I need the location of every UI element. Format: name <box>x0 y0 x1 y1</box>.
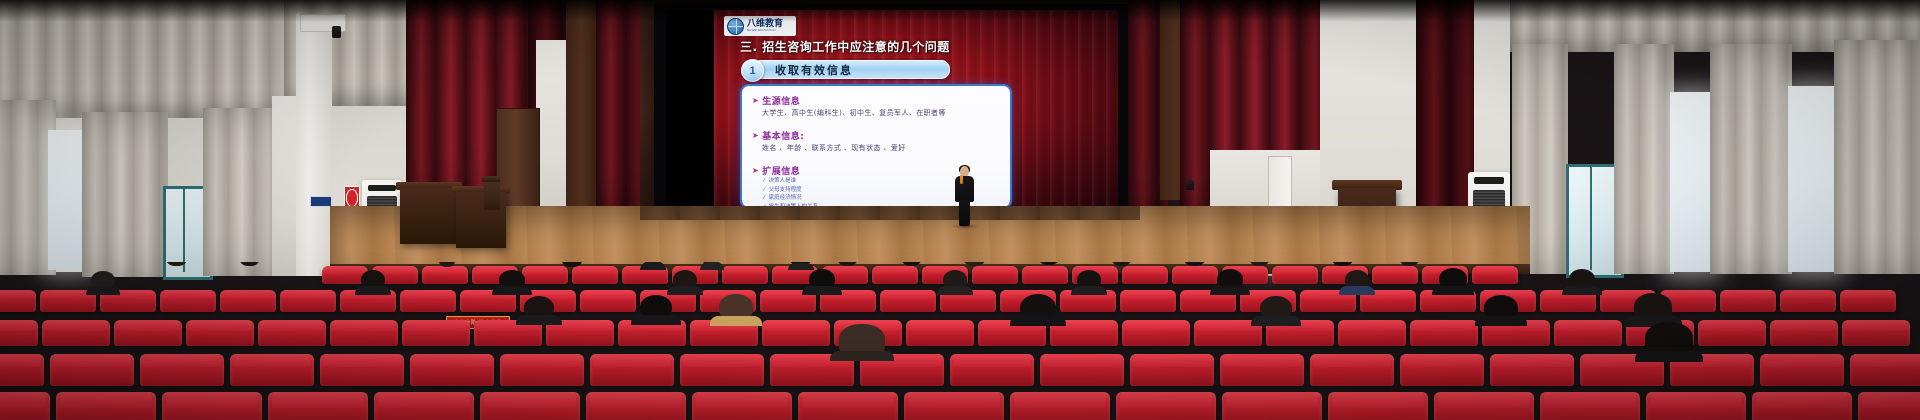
seat <box>1752 392 1852 420</box>
audience-member <box>1630 293 1676 324</box>
seat <box>500 354 584 386</box>
lectern-left <box>400 188 458 244</box>
seat <box>42 320 110 346</box>
audience-member <box>836 262 860 269</box>
seat <box>1122 320 1190 346</box>
seat <box>1272 266 1318 284</box>
presentation-slide: 八维教育 BA WEI EDUCATION 三. 招生咨询工作中应注意的几个问题… <box>714 10 1118 206</box>
seat <box>186 320 254 346</box>
presenter-shadow <box>951 224 979 229</box>
seat <box>1840 290 1896 312</box>
section-label: 收取有效信息 <box>775 62 853 78</box>
seat <box>230 354 314 386</box>
seat <box>0 392 50 420</box>
audience-member <box>164 262 190 269</box>
seat <box>160 290 216 312</box>
audience-member <box>1640 322 1698 358</box>
presenter <box>955 166 977 230</box>
check-icon: ✓ <box>762 195 767 201</box>
audience-member <box>88 271 118 293</box>
logo-subtitle: BA WEI EDUCATION <box>747 29 783 32</box>
seat <box>1698 320 1766 346</box>
slide-logo: 八维教育 BA WEI EDUCATION <box>724 16 796 36</box>
microphone-icon <box>960 175 963 184</box>
seat <box>1220 354 1304 386</box>
seat <box>1858 392 1920 420</box>
bullet-heading-text: 生源信息 <box>762 94 800 107</box>
seat <box>280 290 336 312</box>
seat <box>722 266 768 284</box>
globe-icon <box>727 18 744 35</box>
seat <box>268 392 368 420</box>
bullet-body-text: 大学生、高中生(编科生)、初中生、复员军人、在职者等 <box>762 108 1000 118</box>
seat <box>762 320 830 346</box>
seat <box>56 392 156 420</box>
slide-title: 三. 招生咨询工作中应注意的几个问题 <box>740 38 950 55</box>
arrow-bullet-icon: ➤ <box>752 97 759 105</box>
window-right-3 <box>1788 86 1838 272</box>
seat <box>1434 392 1534 420</box>
seat <box>114 320 182 346</box>
seat <box>1116 392 1216 420</box>
loudspeaker-right <box>1186 180 1194 190</box>
seat <box>1400 354 1484 386</box>
seat <box>798 392 898 420</box>
beige-curtain-right-c <box>1710 44 1792 274</box>
window-right-2 <box>1670 92 1714 272</box>
seat <box>1010 392 1110 420</box>
seat <box>480 392 580 420</box>
seat <box>1770 320 1838 346</box>
seat <box>1780 290 1836 312</box>
window-mullion-left <box>183 188 185 272</box>
seat <box>140 354 224 386</box>
seat <box>586 392 686 420</box>
audience-member <box>1110 262 1134 269</box>
seat <box>680 354 764 386</box>
seat <box>904 392 1004 420</box>
bullet-heading-text: 基本信息: <box>762 129 804 142</box>
audience-member <box>358 270 388 293</box>
chair-stage <box>484 180 500 210</box>
audience-member <box>1182 262 1208 269</box>
beige-curtain-far-right <box>1834 40 1920 274</box>
seat <box>1646 392 1746 420</box>
seat <box>400 290 456 312</box>
seat <box>162 392 262 420</box>
loudspeaker-left <box>332 26 341 38</box>
seat <box>320 354 404 386</box>
seat <box>1554 320 1622 346</box>
check-icon: ✓ <box>762 187 767 193</box>
seat <box>402 320 470 346</box>
seat <box>1222 392 1322 420</box>
seat <box>1472 266 1518 284</box>
audience-member <box>834 324 890 358</box>
seat <box>374 392 474 420</box>
beige-curtain-left-b <box>203 108 275 276</box>
bullet-heading: ➤ 基本信息: <box>752 129 1000 142</box>
seat <box>692 392 792 420</box>
seat <box>1540 392 1640 420</box>
seat <box>950 354 1034 386</box>
audience-member <box>496 270 528 293</box>
beige-curtain-right-b <box>1614 44 1674 274</box>
audience-member <box>1398 262 1422 269</box>
seat <box>1842 320 1910 346</box>
audience-member <box>1342 270 1372 293</box>
audience-member <box>1256 296 1296 324</box>
audience-member <box>1074 270 1104 293</box>
audience-member <box>900 262 924 269</box>
seat <box>1120 290 1176 312</box>
section-number-badge: 1 <box>741 59 764 82</box>
seat <box>50 354 134 386</box>
audience-member <box>1214 269 1246 293</box>
notice-plate-left <box>310 196 332 207</box>
check-icon: ✓ <box>762 178 767 184</box>
presenter-legs <box>959 200 970 226</box>
seat <box>580 290 636 312</box>
bullet-item: ➤ 基本信息: 姓名 、年龄 、联系方式 、现有状态 、爱好 <box>752 129 1000 153</box>
bullet-item: ➤ 生源信息 大学生、高中生(编科生)、初中生、复员军人、在职者等 <box>752 94 1000 118</box>
auditorium-scene: 八维教育 BA WEI EDUCATION 三. 招生咨询工作中应注意的几个问题… <box>0 0 1920 420</box>
slide-section-banner: 1 收取有效信息 <box>752 60 950 79</box>
audience-member <box>560 262 584 269</box>
audience-member <box>1436 268 1470 293</box>
seat <box>1410 320 1478 346</box>
seat <box>1760 354 1844 386</box>
audience-member <box>1480 295 1522 324</box>
led-screen: 八维教育 BA WEI EDUCATION 三. 招生咨询工作中应注意的几个问题… <box>666 10 1118 206</box>
seat <box>0 320 38 346</box>
seat <box>1490 354 1574 386</box>
audience-member <box>714 294 758 324</box>
seat <box>590 354 674 386</box>
seat <box>330 320 398 346</box>
audience-member <box>1330 262 1356 269</box>
arrow-bullet-icon: ➤ <box>752 132 759 140</box>
seat <box>1040 354 1124 386</box>
seat <box>1720 290 1776 312</box>
arrow-bullet-icon: ➤ <box>752 167 759 175</box>
seat <box>906 320 974 346</box>
seat <box>880 290 936 312</box>
seat <box>220 290 276 312</box>
audience-member <box>670 270 700 293</box>
audience-member <box>636 295 676 324</box>
audience-member <box>940 270 970 293</box>
bullet-heading-text: 扩展信息 <box>762 164 800 177</box>
chair-stage-back <box>482 176 500 182</box>
seat <box>1850 354 1920 386</box>
audience-member <box>1036 262 1062 269</box>
seat <box>1130 354 1214 386</box>
pillar-left <box>296 14 332 276</box>
audience-member <box>1566 269 1598 293</box>
window-mullion-right-1 <box>1590 166 1592 270</box>
audience-member <box>1016 294 1060 324</box>
audience-member <box>700 262 724 269</box>
stage-floor-rear <box>640 206 1140 220</box>
seat <box>258 320 326 346</box>
audience-member <box>640 262 666 269</box>
audience-member <box>238 262 262 269</box>
seat <box>1338 320 1406 346</box>
audience-member <box>520 296 558 324</box>
beige-curtain-left-a <box>82 112 168 277</box>
seat <box>1328 392 1428 420</box>
audience-member <box>1248 262 1272 269</box>
bullet-body-text: 姓名 、年龄 、联系方式 、现有状态 、爱好 <box>762 143 1000 153</box>
audience-member <box>962 262 988 269</box>
audience-seating-area <box>0 262 1920 420</box>
audience-member <box>436 262 458 269</box>
bullet-heading: ➤ 生源信息 <box>752 94 1000 107</box>
seat <box>410 354 494 386</box>
seat <box>0 290 36 312</box>
audience-member <box>806 269 838 293</box>
audience-member <box>788 262 814 269</box>
seat <box>1310 354 1394 386</box>
seat <box>0 354 44 386</box>
